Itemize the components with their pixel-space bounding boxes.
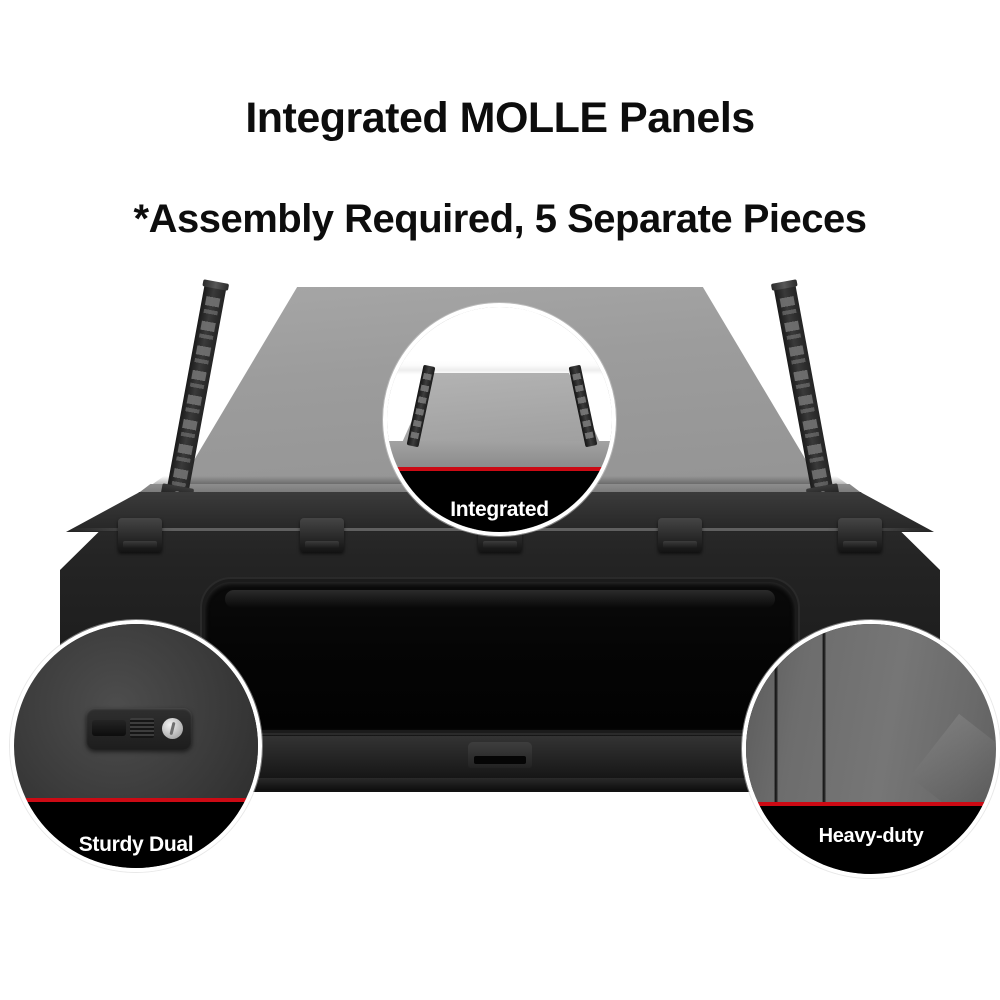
tailgate-handle <box>468 742 532 768</box>
callout-label-line-2: Aluminum <box>819 868 924 878</box>
lock-ribbed-grip <box>130 718 154 738</box>
lock-keyhole-icon <box>162 718 183 739</box>
callout-label-line-1: Sturdy Dual <box>79 818 194 856</box>
mounting-clamp <box>300 518 344 552</box>
callout-label: Sturdy DualLocks <box>79 802 194 872</box>
callout-label-band: IntegratedRoof Rails <box>387 471 612 532</box>
mounting-clamp <box>118 518 162 552</box>
callout-label: Heavy-dutyAluminumAlloy <box>819 806 924 878</box>
window-reflection <box>225 590 775 608</box>
callout-label-band: Heavy-dutyAluminumAlloy <box>746 806 996 874</box>
callout-label-line-1: Heavy-duty <box>819 816 924 847</box>
callout-label: IntegratedRoof Rails <box>449 471 550 536</box>
page-title: Integrated MOLLE Panels <box>0 94 1000 142</box>
assembly-note: *Assembly Required, 5 Separate Pieces <box>0 196 1000 242</box>
callout-label-line-1: Integrated <box>449 485 550 521</box>
roof-deck-lower-zoom <box>387 441 616 469</box>
callout-label-band: Sturdy DualLocks <box>14 802 258 868</box>
callout-roof-rails: IntegratedRoof Rails <box>383 303 616 536</box>
callout-heavy-duty-aluminum-alloy: Heavy-dutyAluminumAlloy <box>742 620 1000 878</box>
marketing-image: Integrated MOLLE Panels *Assembly Requir… <box>0 0 1000 1000</box>
bottom-lip <box>178 778 822 790</box>
mounting-clamp <box>838 518 882 552</box>
mounting-clamp <box>658 518 702 552</box>
callout-sturdy-dual-locks: Sturdy DualLocks <box>10 620 262 872</box>
lock-lever-handle <box>92 720 126 736</box>
lock-assembly <box>86 708 192 750</box>
